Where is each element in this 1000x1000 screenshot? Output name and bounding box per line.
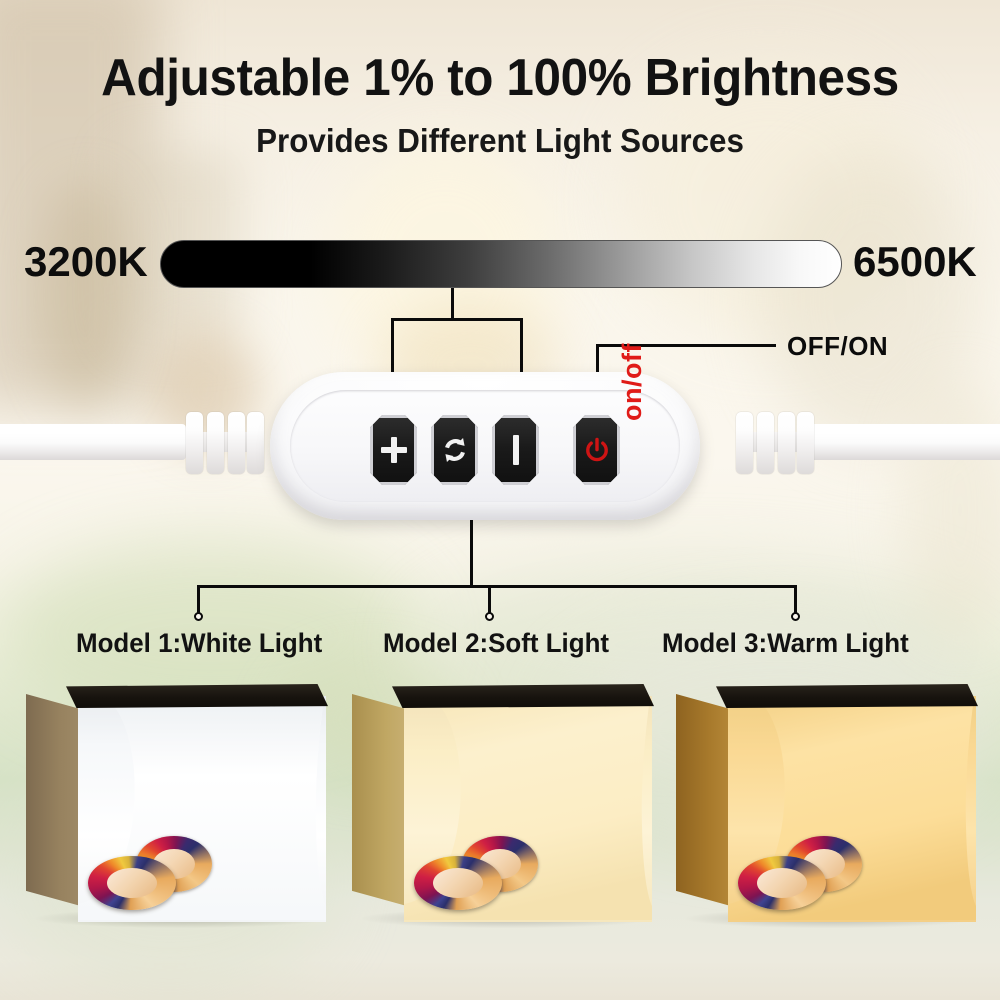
onoff-printed-text: on/off: [617, 343, 648, 421]
lightbox-photo-model-3: [676, 684, 976, 930]
sleeve-rib: [736, 412, 753, 474]
jewelry-rings: [414, 836, 540, 910]
cable-sleeve-left: [186, 412, 264, 474]
power-button[interactable]: [573, 415, 620, 485]
sleeve-rib: [797, 412, 814, 474]
button-face: [373, 418, 414, 482]
ring-front: [738, 856, 826, 910]
kelvin-max-label: 6500K: [853, 238, 977, 286]
cycle-icon: [440, 435, 470, 465]
sleeve-rib: [247, 412, 264, 474]
lightbox-photo-model-2: [352, 684, 652, 930]
power-cable-right: [800, 424, 1000, 460]
sleeve-rib: [757, 412, 774, 474]
mode-cycle-button[interactable]: [431, 415, 478, 485]
leader-line-gradient-stem: [451, 288, 454, 320]
power-cable-left: [0, 424, 186, 460]
sleeve-rib: [186, 412, 203, 474]
leader-line-to-model-3: [794, 585, 797, 615]
ring-front: [88, 856, 176, 910]
power-icon: [583, 436, 611, 464]
model-1-label: Model 1:White Light: [76, 628, 322, 659]
offon-label: OFF/ON: [787, 331, 888, 362]
color-temperature-bar: [160, 240, 842, 288]
leader-line-to-model-1: [197, 585, 200, 615]
cable-sleeve-right: [736, 412, 814, 474]
leader-line-to-model-2: [488, 585, 491, 615]
jewelry-rings: [738, 836, 864, 910]
lightbox-photo-model-1: [26, 684, 326, 930]
jewelry-rings: [88, 836, 214, 910]
leader-line-gradient-cross: [391, 318, 523, 321]
button-face: [495, 418, 536, 482]
page-title: Adjustable 1% to 100% Brightness: [25, 48, 975, 108]
brightness-up-button[interactable]: [370, 415, 417, 485]
sleeve-rib: [228, 412, 245, 474]
button-face: [576, 418, 617, 482]
lightbox-top-edge: [392, 684, 654, 708]
lightbox-top-edge: [716, 684, 978, 708]
brightness-down-button[interactable]: [492, 415, 539, 485]
kelvin-min-label: 3200K: [24, 238, 148, 286]
sleeve-rib: [778, 412, 795, 474]
minus-icon: [513, 435, 519, 465]
leader-endpoint-dot: [194, 612, 203, 621]
background-blur-shape: [40, 180, 130, 410]
button-face: [434, 418, 475, 482]
leader-endpoint-dot: [485, 612, 494, 621]
page-subtitle: Provides Different Light Sources: [25, 122, 975, 160]
lightbox-top-edge: [66, 684, 328, 708]
model-3-label: Model 3:Warm Light: [662, 628, 909, 659]
leader-line-model-crossbar: [197, 585, 797, 588]
infographic-stage: Adjustable 1% to 100% Brightness Provide…: [0, 0, 1000, 1000]
sleeve-rib: [207, 412, 224, 474]
ring-front: [414, 856, 502, 910]
leader-endpoint-dot: [791, 612, 800, 621]
leader-line-model-stem: [470, 520, 473, 587]
plus-icon: [381, 437, 407, 463]
model-2-label: Model 2:Soft Light: [383, 628, 609, 659]
